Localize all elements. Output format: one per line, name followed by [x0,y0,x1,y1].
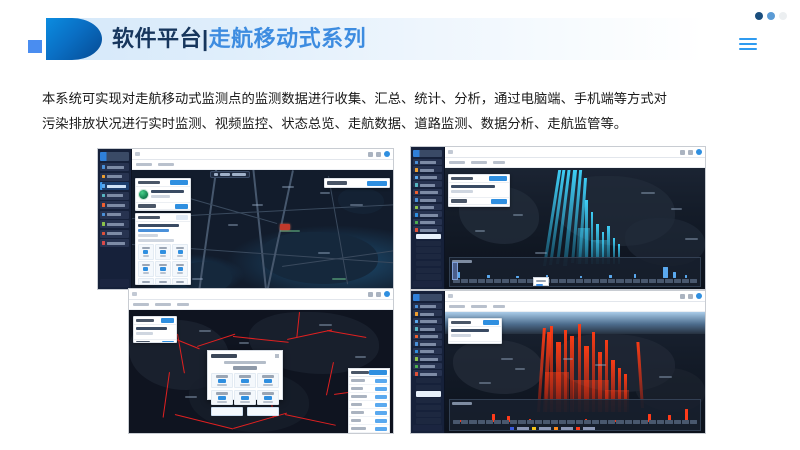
card-header-2 [136,202,190,210]
page-title: 软件平台|走航移动式系列 [112,24,366,54]
map-vehicle-marker[interactable] [280,224,290,230]
legend-label-2 [539,427,551,430]
route-map-canvas[interactable] [129,310,393,433]
map-label-6 [475,230,485,232]
query-card-header-2 [449,197,509,205]
list-panel-header [349,369,389,377]
breadcrumb[interactable] [445,302,705,312]
route-query-card[interactable] [133,316,177,343]
list-item[interactable] [349,377,389,385]
sidebar-subitem-1[interactable] [416,378,441,383]
sidebar-item-2[interactable] [413,310,442,316]
map-label-9 [192,278,203,280]
modal-metric-grid [211,373,279,406]
query-card-title-2 [451,199,467,203]
route-card-button[interactable] [161,318,174,323]
sidebar-collapse-button[interactable] [100,279,129,287]
map-label-2 [239,342,249,344]
app-toolbar[interactable] [445,147,705,158]
metric-grid [138,244,188,285]
data-card-header [136,214,190,222]
modal-button-secondary[interactable] [247,407,279,416]
query-card-title-2 [451,343,466,344]
app-content [132,149,393,289]
data-company-sub [138,229,169,232]
timeline-chart[interactable] [449,399,701,431]
metric-cell [172,244,188,260]
map-label-2 [513,214,523,216]
map-label-1 [199,330,211,332]
query-card-button[interactable] [489,176,507,181]
sidebar-item-4[interactable] [100,192,129,200]
sidebar-subitem-4[interactable] [416,405,441,410]
list-item[interactable] [349,401,389,409]
map-label-3 [252,204,263,206]
app-sidebar[interactable] [411,291,445,433]
dot-gray-icon [779,12,787,20]
body-line-2: 污染排放状况进行实时监测、视频监控、状态总览、走航数据、道路监测、数据分析、走航… [42,111,760,136]
route-company-name [136,327,167,330]
breadcrumb-item-1[interactable] [136,163,152,167]
screenshot-3d-red-plume[interactable] [410,290,706,434]
card-title-2 [138,204,156,208]
hamburger-menu-icon[interactable] [739,38,757,50]
card-body [136,187,190,202]
metric-cell [138,244,154,260]
card-title [138,181,160,185]
blue-square-accent-icon [28,40,42,53]
timeline-axis-ticks [453,279,697,284]
list-item[interactable] [349,409,389,417]
list-item[interactable] [349,393,389,401]
app-sidebar[interactable] [98,149,132,289]
sidebar-subitem-6[interactable] [416,274,441,279]
modal-subtitle [224,361,266,364]
metric-cell [138,278,154,285]
query-card-header-2 [449,341,501,344]
app-toolbar[interactable] [132,149,393,160]
sidebar-item-9[interactable] [413,363,442,369]
app-toolbar[interactable] [445,291,705,302]
monitoring-data-card[interactable] [135,213,191,285]
modal-button-primary[interactable] [211,407,243,416]
avatar[interactable] [696,149,702,155]
app-content [445,147,705,289]
metric-cell [257,373,279,389]
sidebar-item-8[interactable] [100,230,129,238]
breadcrumb-item-3[interactable] [493,161,505,165]
query-panel-card[interactable] [448,174,510,207]
map-label-5 [185,396,197,398]
route-list-panel[interactable] [348,368,390,433]
data-meta-2 [138,239,174,242]
modal-subtitle-2 [233,366,256,370]
sidebar-subitem-3[interactable] [416,398,441,403]
sidebar-item-2[interactable] [413,166,442,172]
toolbar-expand-icon[interactable] [135,152,140,156]
map-3d-canvas[interactable] [445,312,705,433]
sidebar-item-1[interactable] [413,303,442,309]
page-title-secondary: 走航移动式系列 [209,26,367,51]
breadcrumb-item-2[interactable] [471,305,487,309]
sidebar-subitem-3[interactable] [416,254,441,259]
breadcrumb-item-1[interactable] [449,161,465,165]
body-line-1: 本系统可实现对走航移动式监测点的监测数据进行收集、汇总、统计、分析，通过电脑端、… [42,86,760,111]
metric-cell [155,278,171,285]
sidebar-item-4[interactable] [413,325,442,331]
query-panel-card[interactable] [448,318,502,344]
data-card-more-button[interactable] [176,215,188,220]
statistics-modal[interactable] [207,350,283,400]
query-company-sub [451,334,471,337]
legend-swatch-4 [576,427,580,430]
metric-cell [155,244,171,260]
app-content [129,289,393,433]
timeline-title [452,402,472,405]
list-panel-title [351,371,369,375]
page-title-primary: 软件平台 [112,26,202,51]
route-card-title [136,319,154,323]
map-label-3 [641,192,655,194]
timeline-range-handle[interactable] [452,262,458,280]
app-toolbar[interactable] [129,289,393,300]
route-card-body [134,325,176,339]
app-window [129,289,393,433]
metric-cell [155,261,171,277]
route-company-sub [136,332,153,335]
sidebar-item-3-active[interactable] [100,182,129,190]
map-search-card[interactable] [324,178,390,188]
app-window [411,291,705,433]
map-label-5 [595,364,606,366]
sidebar-collapse-button[interactable] [413,281,442,287]
page-title-separator: | [202,26,209,51]
metric-cell [211,373,233,389]
menu-line-2 [739,43,757,45]
query-card-header [449,319,501,327]
map-search-title [327,181,347,185]
sidebar-item-8[interactable] [413,211,442,217]
map-label-3 [479,382,491,384]
route-card-header-2 [134,339,176,343]
avatar[interactable] [384,291,390,297]
toolbar-fullscreen-icon[interactable] [680,294,685,299]
monitoring-point-card[interactable] [135,178,191,211]
timeline-tooltip [533,277,549,286]
avatar[interactable] [696,293,702,299]
toolbar-settings-icon[interactable] [688,150,693,155]
map-canvas[interactable] [132,170,393,289]
sidebar-item-3[interactable] [413,318,442,324]
app-sidebar[interactable] [411,147,445,289]
toolbar-fullscreen-icon[interactable] [368,292,373,297]
map-label-6 [659,376,672,378]
query-company-name [451,329,489,332]
timeline-plot [453,264,697,278]
sidebar-item-4[interactable] [413,181,442,187]
query-card-body [449,327,501,341]
menu-line-1 [739,38,757,40]
breadcrumb-item-3[interactable] [493,305,505,309]
metric-cell [172,261,188,277]
app-window [411,147,705,289]
sidebar-item-10[interactable] [413,370,442,376]
sidebar-item-10[interactable] [413,226,442,232]
sidebar-item-7[interactable] [100,220,129,228]
query-card-title [451,177,473,181]
legend-swatch-2 [532,427,536,430]
toolbar-expand-icon[interactable] [448,294,453,298]
dot-blue-icon [767,12,775,20]
sidebar-item-2[interactable] [100,173,129,181]
map-label-2 [320,192,330,194]
sidebar-collapse-button[interactable] [413,425,442,431]
sidebar-item-5[interactable] [413,333,442,339]
toolbar-settings-icon[interactable] [376,292,381,297]
screenshot-map-monitoring-point[interactable] [97,148,394,290]
card-header [136,179,190,187]
breadcrumb-item-2[interactable] [158,163,174,167]
map-label-4 [671,208,682,210]
screenshot-route-red-lines[interactable] [128,288,394,434]
list-panel-action[interactable] [369,370,387,375]
metric-cell [257,390,279,406]
metric-cell [138,261,154,277]
map-search-header [325,179,389,187]
sidebar-logo [100,152,129,161]
toolbar-expand-icon[interactable] [132,292,137,296]
modal-actions [211,407,279,416]
timeline-chart[interactable] [449,257,701,287]
sidebar-item-5[interactable] [100,201,129,209]
map-label-2 [515,368,525,370]
screenshot-gallery [0,142,800,442]
body-description: 本系统可实现对走航移动式监测点的监测数据进行收集、汇总、统计、分析，通过电脑端、… [42,86,760,136]
breadcrumb-item-1[interactable] [449,305,465,309]
modal-header [211,354,279,358]
toolbar-fullscreen-icon[interactable] [368,152,373,157]
sidebar-item-5[interactable] [413,189,442,195]
map-label-7 [318,252,330,254]
data-card-body [136,222,190,285]
legend-label-3 [561,427,573,430]
sidebar-item-1[interactable] [413,159,442,165]
sidebar-subitem-active[interactable] [416,234,441,239]
sidebar-subitem-1[interactable] [416,241,441,246]
sidebar-subitem-5[interactable] [416,268,441,273]
close-icon[interactable] [275,354,279,358]
sidebar-item-6[interactable] [100,211,129,219]
list-item[interactable] [349,425,389,433]
sidebar-item-7[interactable] [413,204,442,210]
breadcrumb[interactable] [445,158,705,168]
sidebar-item-1[interactable] [100,163,129,171]
header-dots-decoration [755,12,787,20]
breadcrumb-item-2[interactable] [155,303,171,307]
company-logo-icon [138,189,149,200]
avatar[interactable] [384,151,390,157]
query-company-name [451,185,495,188]
sidebar-logo [413,150,442,157]
query-card-body-2 [449,205,509,207]
sidebar-logo [413,294,442,301]
toolbar-fullscreen-icon[interactable] [680,150,685,155]
map-label-5 [685,238,698,240]
route-search-button[interactable] [162,341,174,344]
map-label-1 [282,186,294,188]
card-action-button-2[interactable] [175,204,188,209]
company-name [151,190,184,193]
metric-cell [211,390,233,406]
data-card-title [138,216,160,220]
sidebar-item-9[interactable] [413,219,442,225]
dot-dark-icon [755,12,763,20]
data-meta-1 [138,234,158,237]
query-company-sub [451,190,473,193]
metric-cell [234,390,256,406]
query-submit-button[interactable] [484,343,499,345]
toolbar-expand-icon[interactable] [448,150,453,154]
sidebar-item-3[interactable] [413,174,442,180]
app-content [445,291,705,433]
company-subtitle [151,195,170,198]
map-label-5 [228,224,238,226]
breadcrumb[interactable] [129,300,393,310]
map-label-4 [563,358,573,360]
route-card-title-2 [136,341,150,343]
slide-root: 软件平台|走航移动式系列 本系统可实现对走航移动式监测点的监测数据进行收集、汇总… [0,0,800,450]
sidebar-subitem-5[interactable] [416,412,441,417]
sidebar-subitem-2[interactable] [416,247,441,252]
map-search-button[interactable] [367,181,387,186]
toolbar-settings-icon[interactable] [376,152,381,157]
query-submit-button[interactable] [491,199,507,204]
sidebar-item-9[interactable] [100,239,129,247]
screenshot-3d-cyan-plume[interactable] [410,146,706,290]
app-window [98,149,393,289]
sidebar-item-6[interactable] [413,196,442,202]
metric-cell [172,278,188,285]
sidebar-subitem-active[interactable] [416,391,441,396]
map-label-8 [332,278,346,280]
map-view-toggle[interactable] [210,171,250,178]
map-label-1 [501,358,513,360]
list-item[interactable] [349,417,389,425]
legend-swatch-1 [510,427,514,430]
breadcrumb-item-1[interactable] [133,303,149,307]
data-company-name [138,224,179,227]
map-label-4 [355,356,366,358]
map-water-3 [338,188,384,214]
timeline-legend [510,427,595,430]
query-card-title [451,321,471,325]
map-label-7 [535,252,547,254]
query-card-button[interactable] [483,320,499,325]
legend-label-4 [583,427,595,430]
sidebar-item-8[interactable] [413,355,442,361]
sidebar-item-6[interactable] [413,340,442,346]
query-card-body [449,183,509,197]
sidebar-subitem-6[interactable] [416,418,441,423]
route-card-header [134,317,176,325]
map-3d-canvas[interactable] [445,168,705,289]
map-label-4 [350,204,363,206]
map-label-6 [280,230,300,232]
breadcrumb[interactable] [132,160,393,170]
metric-cell [234,373,256,389]
toolbar-settings-icon[interactable] [688,294,693,299]
query-card-header [449,175,509,183]
sidebar-item-7[interactable] [413,348,442,354]
card-body-2 [136,210,190,211]
sidebar-subitem-4[interactable] [416,261,441,266]
breadcrumb-item-3[interactable] [177,303,189,307]
breadcrumb-item-2[interactable] [471,161,487,165]
menu-line-3 [739,48,757,50]
map-label-3 [319,324,332,326]
timeline-axis-ticks [453,420,697,425]
modal-title [211,354,237,358]
list-item[interactable] [349,385,389,393]
legend-label-1 [517,427,529,430]
legend-swatch-3 [554,427,558,430]
sidebar-subitem-2[interactable] [416,385,441,390]
slide-header: 软件平台|走航移动式系列 [0,0,800,78]
card-action-button[interactable] [170,180,188,185]
